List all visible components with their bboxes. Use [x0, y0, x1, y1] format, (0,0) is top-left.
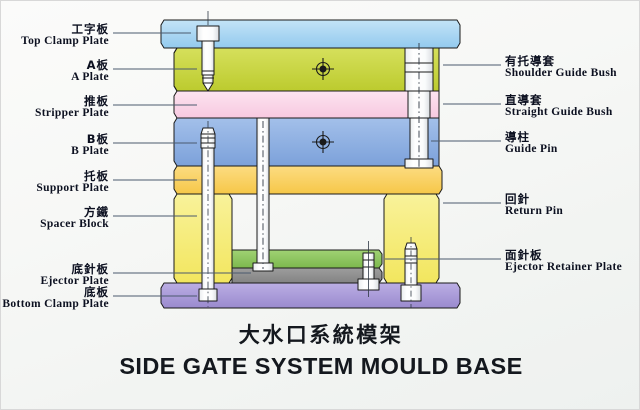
diagram-page: 工字板 Top Clamp Plate A板 A Plate 推板 Stripp… — [0, 0, 640, 410]
label-bottom-clamp-plate-en: Bottom Clamp Plate — [2, 298, 109, 310]
label-stripper-plate-en: Stripper Plate — [35, 107, 109, 119]
label-bottom-clamp-plate: 底板 Bottom Clamp Plate — [2, 286, 109, 311]
label-support-plate-cn: 托板 — [36, 170, 109, 182]
label-return-pin-en: Return Pin — [505, 205, 563, 217]
label-stripper-plate: 推板 Stripper Plate — [35, 95, 109, 120]
cap-screw-thread — [203, 75, 213, 83]
label-stripper-plate-cn: 推板 — [35, 95, 109, 107]
label-spacer-block-en: Spacer Block — [40, 218, 109, 230]
label-straight-guide-bush-en: Straight Guide Bush — [505, 106, 613, 118]
label-b-plate: B板 B Plate — [71, 133, 109, 158]
label-ejector-plate-cn: 底針板 — [40, 263, 109, 275]
label-support-plate: 托板 Support Plate — [36, 170, 109, 195]
label-a-plate-cn: A板 — [71, 59, 109, 71]
label-spacer-block: 方鐵 Spacer Block — [40, 206, 109, 231]
label-spacer-block-cn: 方鐵 — [40, 206, 109, 218]
label-straight-guide-bush: 直導套 Straight Guide Bush — [505, 94, 613, 119]
label-top-clamp-plate: 工字板 Top Clamp Plate — [21, 23, 109, 48]
label-guide-pin-en: Guide Pin — [505, 143, 558, 155]
cap-screw-head — [197, 26, 219, 41]
label-return-pin: 回針 Return Pin — [505, 193, 563, 218]
title-english: SIDE GATE SYSTEM MOULD BASE — [1, 353, 640, 380]
label-return-pin-cn: 回針 — [505, 193, 563, 205]
label-straight-guide-bush-cn: 直導套 — [505, 94, 613, 106]
label-b-plate-cn: B板 — [71, 133, 109, 145]
title-chinese: 大水口系統模架 — [1, 319, 640, 349]
label-guide-pin: 導柱 Guide Pin — [505, 131, 558, 156]
label-top-clamp-plate-cn: 工字板 — [21, 23, 109, 35]
label-a-plate-en: A Plate — [71, 71, 109, 83]
label-ejector-retainer-plate-en: Ejector Retainer Plate — [505, 261, 622, 273]
label-top-clamp-plate-en: Top Clamp Plate — [21, 35, 109, 47]
guide-pin-shank — [410, 118, 428, 159]
label-a-plate: A板 A Plate — [71, 59, 109, 84]
label-bottom-clamp-plate-cn: 底板 — [2, 286, 109, 298]
label-support-plate-en: Support Plate — [36, 182, 109, 194]
title-block: 大水口系統模架 SIDE GATE SYSTEM MOULD BASE — [1, 319, 640, 380]
label-shoulder-guide-bush: 有托導套 Shoulder Guide Bush — [505, 55, 617, 80]
label-shoulder-guide-bush-cn: 有托導套 — [505, 55, 617, 67]
cap-screw-shank — [202, 41, 214, 75]
label-shoulder-guide-bush-en: Shoulder Guide Bush — [505, 67, 617, 79]
label-b-plate-en: B Plate — [71, 145, 109, 157]
label-ejector-retainer-plate: 面針板 Ejector Retainer Plate — [505, 249, 622, 274]
label-guide-pin-cn: 導柱 — [505, 131, 558, 143]
plate-stripper — [174, 91, 439, 118]
label-ejector-retainer-plate-cn: 面針板 — [505, 249, 622, 261]
